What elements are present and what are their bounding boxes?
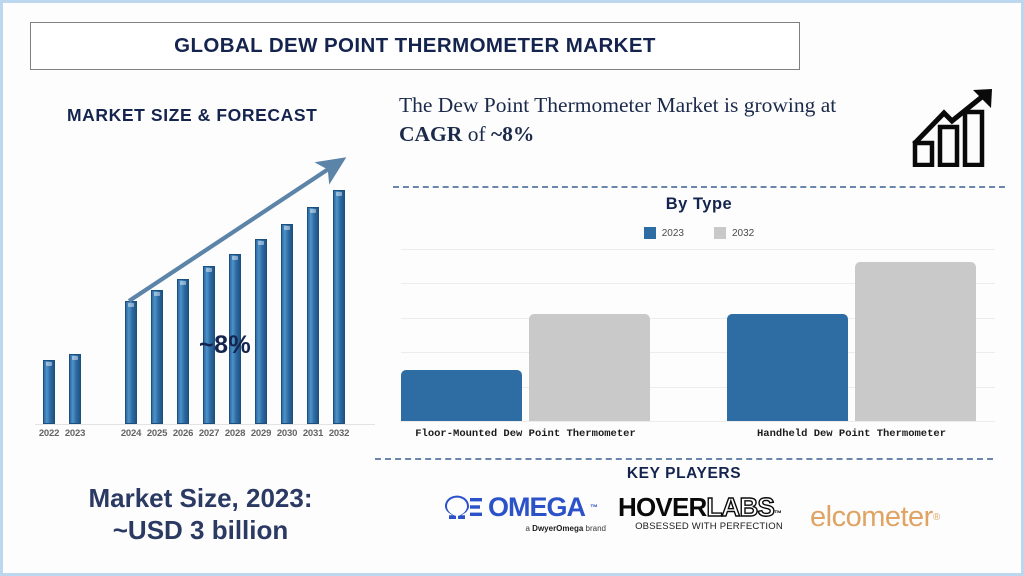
- forecast-bar: [255, 239, 267, 424]
- elcometer-logo: elcometer®: [810, 492, 970, 542]
- forecast-bar: [281, 224, 293, 424]
- omega-tagline-brand: DwyerOmega: [532, 524, 583, 533]
- statement-part-2: of: [462, 122, 491, 146]
- forecast-bar: [125, 301, 137, 425]
- key-players-logos: OMEGA ™ a DwyerOmega brand HOVERLABS™ OB…: [443, 489, 988, 545]
- forecast-year-label: 2023: [60, 428, 90, 439]
- forecast-bar: [151, 290, 163, 424]
- cagr-annotation-left: ~8%: [199, 331, 251, 360]
- legend-item[interactable]: 2023: [644, 227, 684, 239]
- forecast-bar: [43, 360, 55, 424]
- statement-bold-cagr: CAGR: [399, 122, 462, 146]
- by-type-legend: 20232032: [393, 227, 1005, 239]
- legend-item[interactable]: 2032: [714, 227, 754, 239]
- market-size-callout: Market Size, 2023: ~USD 3 billion: [23, 483, 378, 546]
- hoverlabs-tm-mark: ™: [774, 509, 782, 518]
- cagr-statement: The Dew Point Thermometer Market is grow…: [399, 91, 889, 149]
- omega-tagline-post: brand: [583, 524, 606, 533]
- forecast-bar: [333, 190, 345, 424]
- by-type-bar: [727, 314, 848, 421]
- forecast-bar: [307, 207, 319, 424]
- page-title: GLOBAL DEW POINT THERMOMETER MARKET: [174, 34, 656, 58]
- divider-bottom: [375, 458, 993, 460]
- statement-bold-rate: ~8%: [491, 122, 534, 146]
- forecast-bar: [69, 354, 81, 424]
- by-type-bar: [855, 262, 976, 421]
- legend-label: 2023: [662, 228, 684, 239]
- infographic-page: GLOBAL DEW POINT THERMOMETER MARKET MARK…: [0, 0, 1024, 576]
- grid-line: [401, 249, 995, 250]
- by-type-category-label: Handheld Dew Point Thermometer: [713, 427, 990, 441]
- hoverlabs-wordmark-outline: LABS: [706, 492, 774, 523]
- forecast-bar: [177, 279, 189, 424]
- market-size-line-2: ~USD 3 billion: [23, 515, 378, 547]
- hoverlabs-logo: HOVERLABS™ OBSESSED WITH PERFECTION: [618, 492, 800, 542]
- market-size-forecast-chart: 2022202320242025202620272028202920302031…: [21, 153, 381, 448]
- by-type-bar: [529, 314, 650, 421]
- forecast-year-label: 2032: [324, 428, 354, 439]
- hoverlabs-wordmark-solid: HOVER: [618, 492, 706, 523]
- by-type-chart: [401, 249, 995, 421]
- statement-part-1: The Dew Point Thermometer Market is grow…: [399, 93, 836, 117]
- grid-line: [401, 421, 995, 422]
- title-box: GLOBAL DEW POINT THERMOMETER MARKET: [30, 22, 800, 70]
- legend-label: 2032: [732, 228, 754, 239]
- omega-wordmark: OMEGA: [488, 492, 585, 523]
- omega-tm-mark: ™: [590, 503, 598, 512]
- market-size-line-1: Market Size, 2023:: [23, 483, 378, 515]
- chart-baseline: [35, 424, 375, 425]
- market-size-forecast-heading: MARKET SIZE & FORECAST: [67, 105, 317, 126]
- by-type-bar: [401, 370, 522, 421]
- legend-swatch-icon: [714, 227, 726, 239]
- by-type-category-label: Floor-Mounted Dew Point Thermometer: [387, 427, 664, 441]
- elcometer-wordmark: elcometer: [810, 501, 933, 534]
- by-type-heading: By Type: [393, 195, 1005, 214]
- elcometer-registered-mark: ®: [933, 512, 940, 523]
- hoverlabs-tagline: OBSESSED WITH PERFECTION: [618, 521, 800, 532]
- omega-symbol-icon: [443, 495, 483, 521]
- bar-chart-growth-icon: [911, 87, 1003, 167]
- omega-tagline: a DwyerOmega brand: [443, 524, 608, 533]
- legend-swatch-icon: [644, 227, 656, 239]
- divider-top: [393, 186, 1005, 188]
- key-players-heading: KEY PLAYERS: [375, 465, 993, 483]
- omega-logo: OMEGA ™ a DwyerOmega brand: [443, 492, 608, 542]
